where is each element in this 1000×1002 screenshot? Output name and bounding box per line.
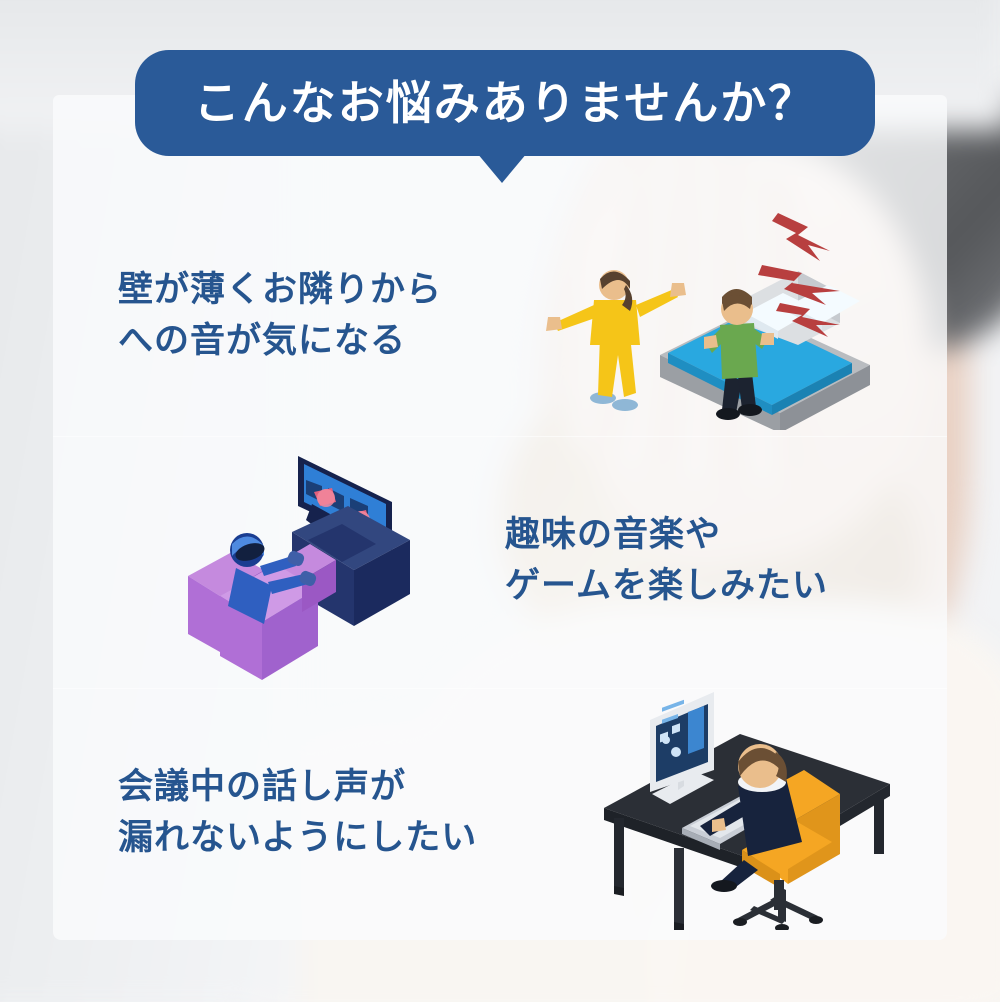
card-divider-2 <box>53 688 947 689</box>
woman-figure <box>546 270 686 411</box>
headline-text: こんなお悩みありませんか？ <box>194 80 817 126</box>
concern-row-2-line1: 趣味の音楽や <box>505 515 721 554</box>
concern-row-1: 壁が薄くお隣りから への音が気になる <box>110 205 940 430</box>
desk-meeting-illustration <box>590 690 930 930</box>
bed-group <box>660 271 870 430</box>
concern-row-3-line2: 漏れないようにしたい <box>118 813 477 864</box>
concern-row-1-line1: 壁が薄くお隣りから <box>118 270 442 309</box>
concern-row-1-line2: への音が気になる <box>118 316 442 367</box>
concern-row-2-line2: ゲームを楽しみたい <box>505 561 828 612</box>
desk-meeting-svg <box>590 690 930 930</box>
vr-gaming-svg <box>180 440 480 680</box>
chair-base <box>733 886 823 930</box>
concern-row-3-text: 会議中の話し声が 漏れないようにしたい <box>118 762 477 864</box>
concern-row-2: 趣味の音楽や ゲームを楽しみたい <box>110 430 940 680</box>
headline-banner: こんなお悩みありませんか？ <box>135 50 875 156</box>
bedroom-noise-svg <box>540 205 940 430</box>
concern-row-1-text: 壁が薄くお隣りから への音が気になる <box>118 265 442 367</box>
vr-gaming-illustration <box>180 440 480 680</box>
concern-row-3: 会議中の話し声が 漏れないようにしたい <box>110 690 940 935</box>
poster-canvas: こんなお悩みありませんか？ 壁が薄くお隣りから への音が気になる <box>0 0 1000 1002</box>
concern-row-3-line1: 会議中の話し声が <box>118 767 406 806</box>
banner-pointer-triangle <box>477 153 527 183</box>
bedroom-noise-illustration <box>540 205 940 430</box>
concern-row-2-text: 趣味の音楽や ゲームを楽しみたい <box>505 510 828 612</box>
